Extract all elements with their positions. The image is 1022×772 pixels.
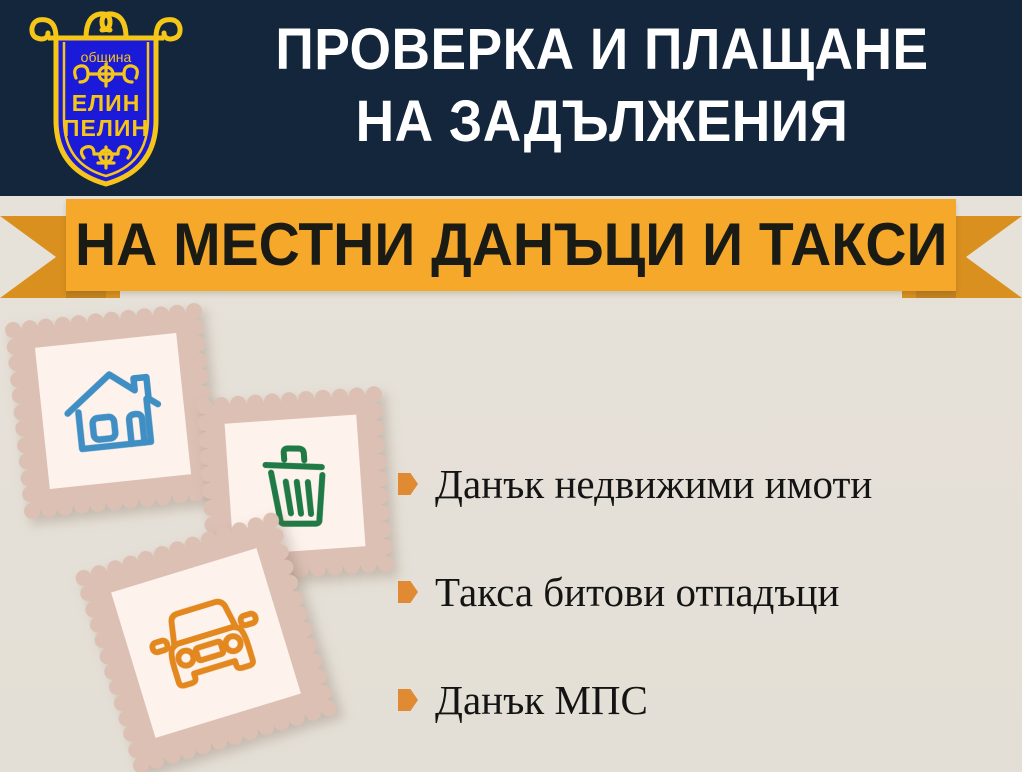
stamp-scallop: [21, 486, 39, 504]
stamp-scallop: [281, 392, 298, 409]
header-bar: община ЕЛИН ПЕЛИН: [0, 0, 1022, 196]
tax-type-list: Данък недвижими имоти Такса битови отпад…: [398, 430, 1008, 754]
house-icon: [54, 352, 173, 471]
crest-name-line2: ПЕЛИН: [63, 115, 149, 141]
stamp-scallop: [155, 488, 173, 506]
stamp-scallop: [103, 311, 121, 329]
stamp-scallop: [40, 500, 58, 518]
poster-root: община ЕЛИН ПЕЛИН: [0, 0, 1022, 772]
stamp-scallop: [37, 318, 55, 336]
stamp-scallop: [213, 396, 230, 413]
stamp-scallop: [8, 354, 26, 372]
list-item-label: Данък недвижими имоти: [435, 461, 872, 507]
stamp-scallop: [189, 335, 207, 353]
stamp-scallop: [119, 309, 137, 327]
stamp-scallop: [187, 319, 205, 337]
page-title-line-2: НА ЗАДЪЛЖЕНИЯ: [225, 86, 979, 158]
stamp-scallop: [202, 482, 219, 499]
ribbon-subtitle-text: НА МЕСТНИ ДАНЪЦИ И ТАКСИ: [75, 215, 948, 275]
stamp-scallop: [13, 403, 31, 421]
stamp-scallop: [318, 698, 338, 718]
stamp-scallop: [4, 321, 22, 339]
stamp-scallop: [152, 306, 170, 324]
stamp-card-house: [13, 311, 213, 511]
car-front-icon: [134, 574, 278, 712]
stamp-scallop: [23, 502, 41, 520]
stamp-scallop: [360, 557, 377, 574]
stamp-scallop: [377, 555, 394, 572]
stamp-scallop: [196, 398, 213, 415]
stamp-paper-house: [35, 333, 191, 489]
stamp-scallop: [21, 319, 39, 337]
list-item[interactable]: Данък МПС: [398, 646, 1008, 754]
stamp-scallop: [375, 521, 392, 538]
stamp-scallop: [192, 368, 210, 386]
stamp-scallop: [18, 453, 36, 471]
stamp-scallop: [190, 352, 208, 370]
stamp-scallop: [197, 415, 214, 432]
stamp-scallop: [368, 420, 385, 437]
stamp-scallop: [56, 499, 74, 517]
stamp-scallop: [6, 338, 24, 356]
stamp-scallop: [54, 316, 72, 334]
stamp-scallop: [203, 499, 220, 516]
stamp-scallop: [367, 403, 384, 420]
stamp-scallop: [136, 307, 154, 325]
list-item-label: Такса битови отпадъци: [435, 569, 839, 615]
stamp-scallop: [89, 495, 107, 513]
stamp-scallop: [9, 371, 27, 389]
stamp-scallop: [371, 471, 388, 488]
stamp-scallop: [15, 420, 33, 438]
stamp-scallop: [11, 387, 29, 405]
stamp-scallop: [372, 487, 389, 504]
stamp-scallop: [309, 560, 326, 577]
page-title-line-1: ПРОВЕРКА И ПЛАЩАНЕ: [225, 14, 979, 86]
stamp-scallop: [200, 465, 217, 482]
stamp-scallop: [369, 437, 386, 454]
stamp-scallop: [86, 313, 104, 331]
stamp-scallop: [199, 448, 216, 465]
stamp-paper-car: [111, 548, 301, 738]
stamp-scallop: [169, 304, 187, 322]
stamp-scallop: [370, 454, 387, 471]
list-item[interactable]: Данък недвижими имоти: [398, 430, 1008, 538]
stamp-scallop: [138, 490, 156, 508]
stamp-scallop: [331, 388, 348, 405]
header-title-block: ПРОВЕРКА И ПЛАЩАНЕ НА ЗАДЪЛЖЕНИЯ: [192, 14, 1012, 158]
stamp-scallop: [198, 432, 215, 449]
stamp-scallop: [16, 436, 34, 454]
stamp-scallop: [264, 393, 281, 410]
arrow-bullet-icon: [398, 689, 418, 711]
stamp-scallop: [230, 395, 247, 412]
stamp-scallop: [20, 469, 38, 487]
stamp-scallop: [374, 504, 391, 521]
stamp-scallop: [105, 494, 123, 512]
stamp-scallop: [376, 538, 393, 555]
stamp-scallop: [122, 492, 140, 510]
stamp-scallop: [73, 497, 91, 515]
list-item[interactable]: Такса битови отпадъци: [398, 538, 1008, 646]
crest-name-line1: ЕЛИН: [72, 90, 141, 116]
arrow-bullet-icon: [398, 473, 418, 495]
subtitle-ribbon: НА МЕСТНИ ДАНЪЦИ И ТАКСИ: [0, 196, 1022, 306]
stamp-scallop: [171, 487, 189, 505]
stamp-scallop: [348, 387, 365, 404]
stamp-scallop: [70, 314, 88, 332]
stamp-scallop: [314, 389, 331, 406]
stamp-scallop: [326, 559, 343, 576]
ribbon-band: НА МЕСТНИ ДАНЪЦИ И ТАКСИ: [66, 199, 956, 291]
stamp-scallop: [365, 386, 382, 403]
list-item-label: Данък МПС: [435, 677, 648, 723]
arrow-bullet-icon: [398, 581, 418, 603]
stamp-scallop: [343, 558, 360, 575]
municipality-crest-logo: община ЕЛИН ПЕЛИН: [26, 8, 186, 188]
stamp-scallop: [297, 390, 314, 407]
stamp-scallop: [247, 394, 264, 411]
